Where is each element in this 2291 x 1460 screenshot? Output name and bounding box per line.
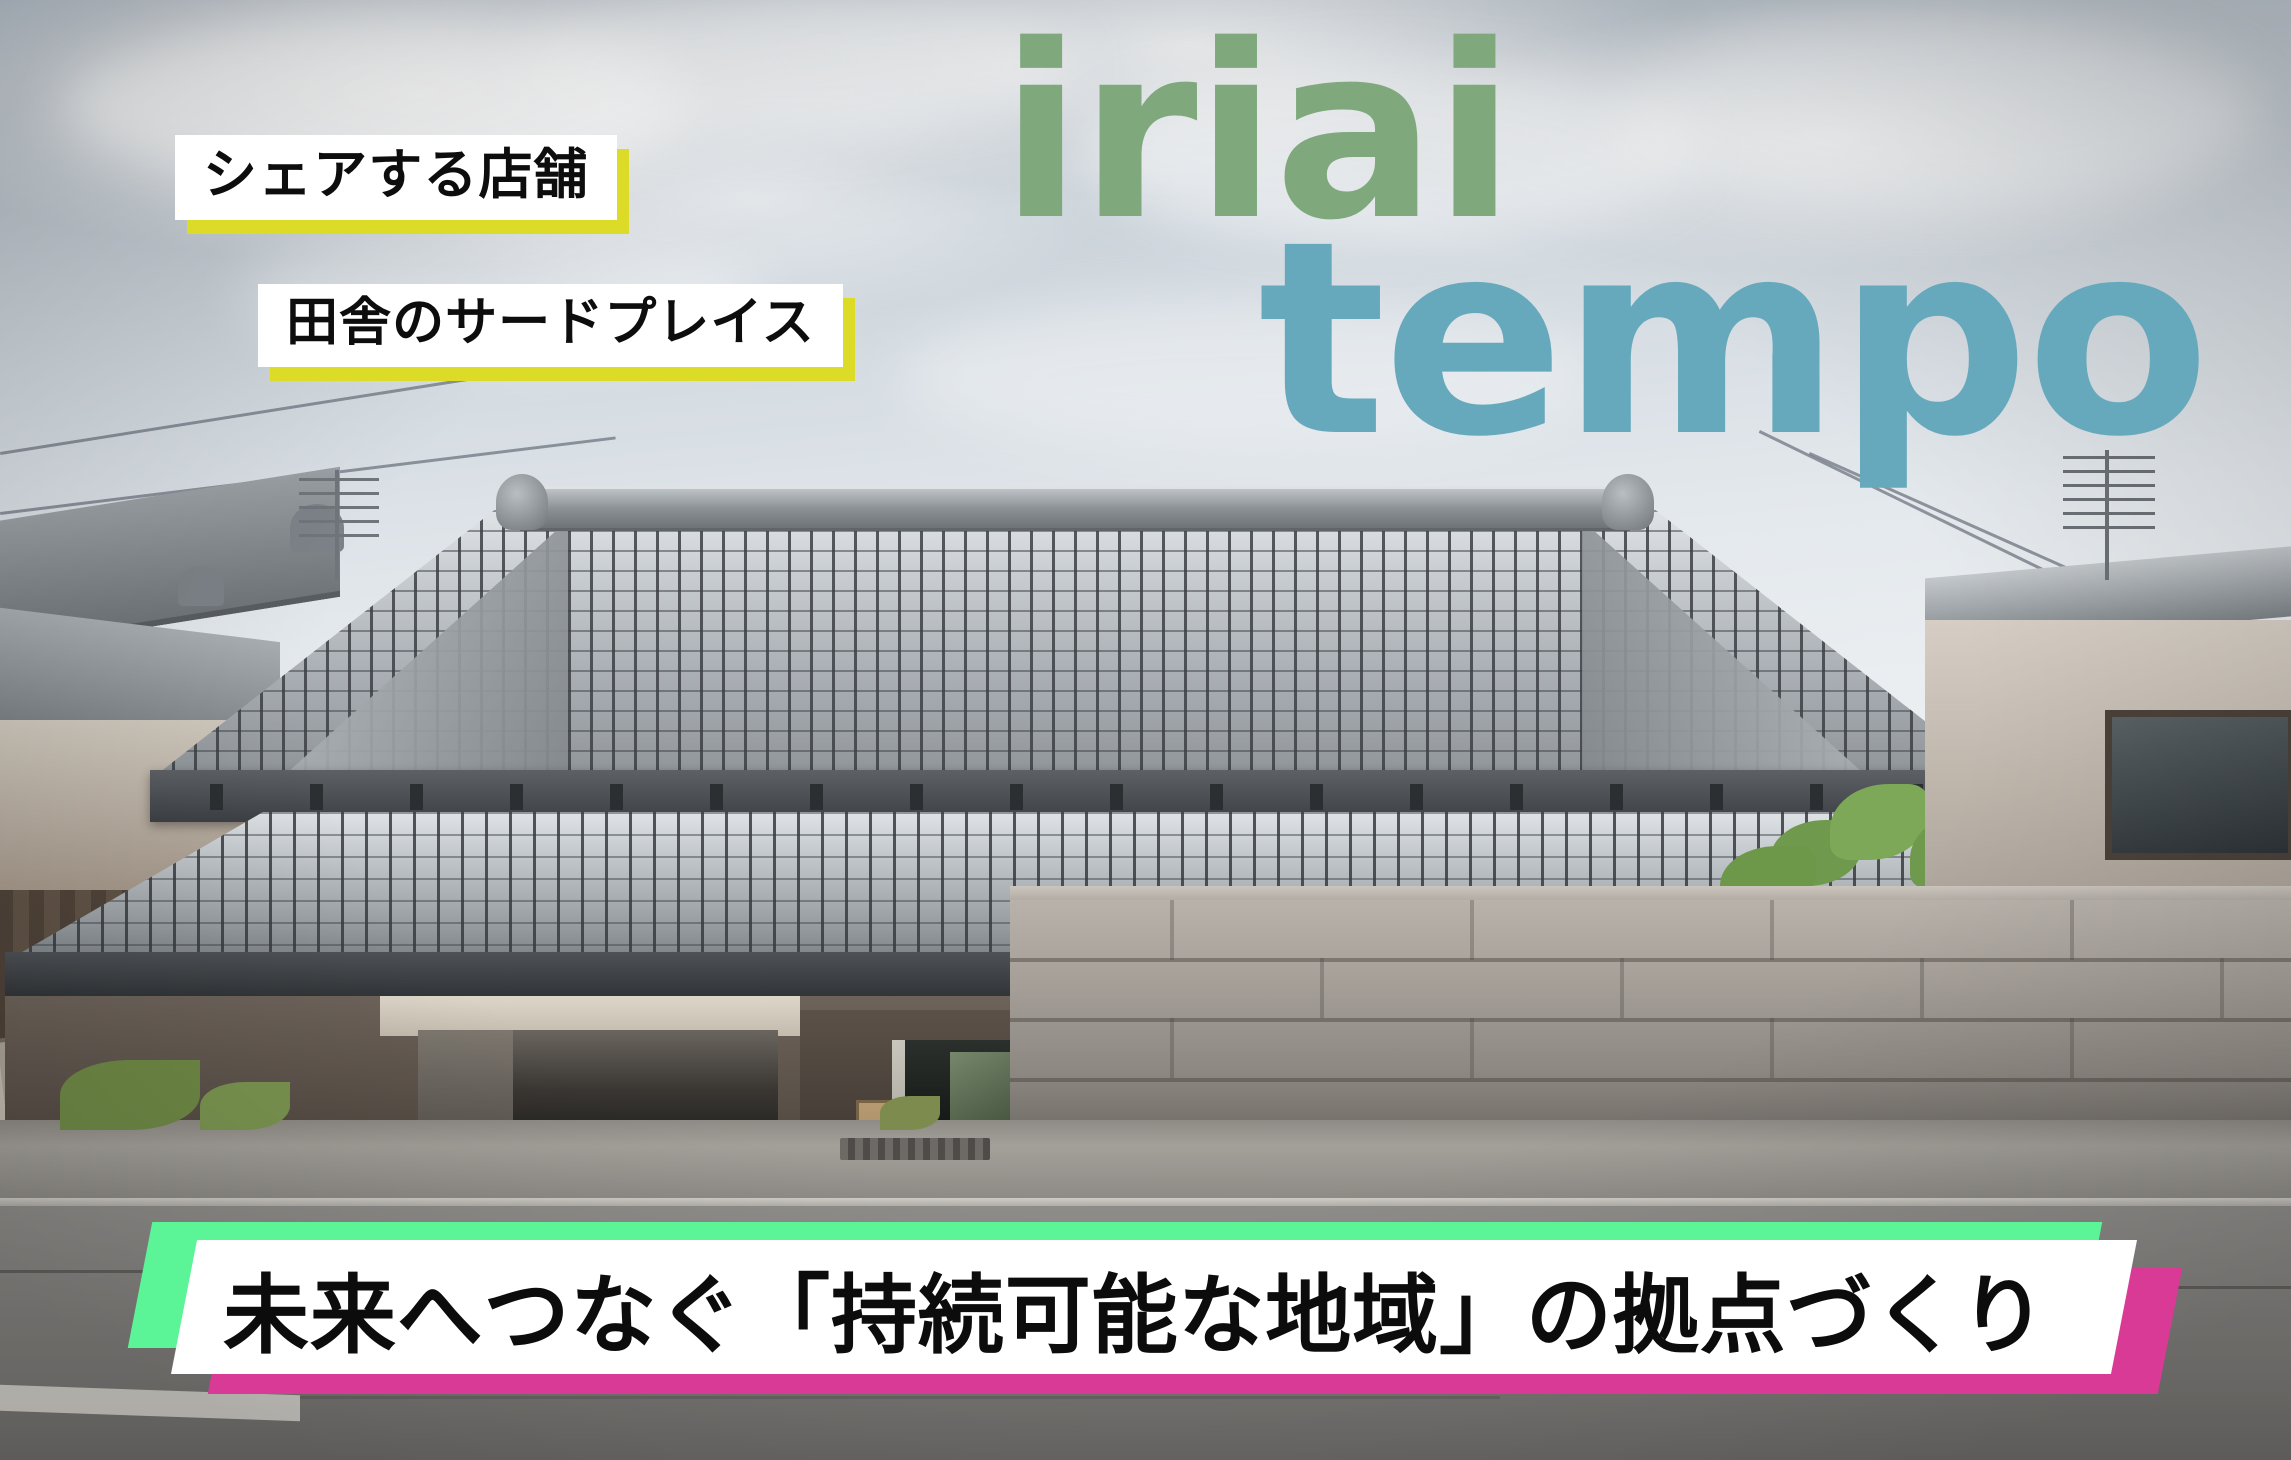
banner-text-wrap: 未来へつなぐ「持続可能な地域」の拠点づくり: [140, 1222, 2130, 1400]
badge-plate: 田舎のサードプレイス: [258, 284, 843, 367]
badge-plate: シェアする店舗: [175, 135, 617, 220]
tagline-banner: 未来へつなぐ「持続可能な地域」の拠点づくり: [140, 1222, 2130, 1400]
banner-label: 未来へつなぐ「持続可能な地域」の拠点づくり: [223, 1245, 2047, 1370]
poster-canvas: シェアする店舗 田舎のサードプレイス iriai tempo 未来へつなぐ「持続…: [0, 0, 2291, 1460]
badge-label: 田舎のサードプレイス: [286, 296, 815, 351]
logo-tempo: tempo: [1258, 225, 2207, 455]
badge-label: シェアする店舗: [203, 147, 589, 204]
badge-share-store: シェアする店舗: [175, 135, 617, 220]
badge-third-place: 田舎のサードプレイス: [258, 284, 843, 367]
